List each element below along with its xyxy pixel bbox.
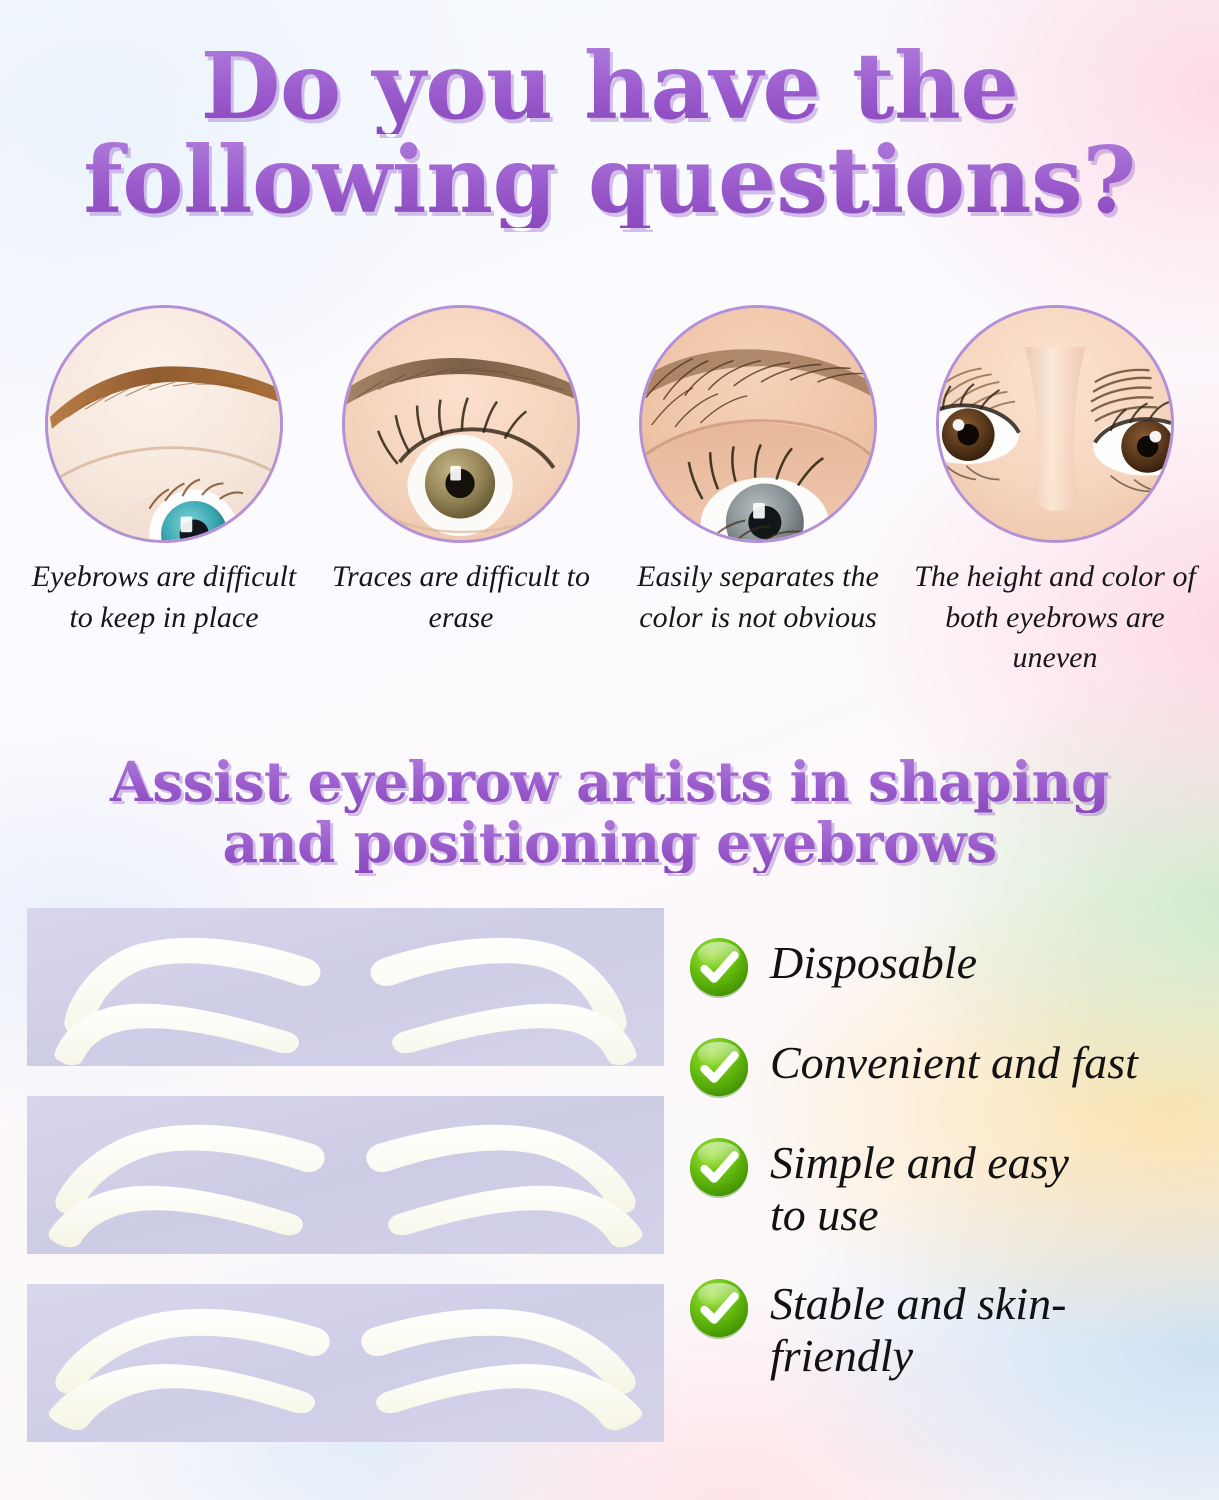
stencil-sheet-list (27, 908, 664, 1472)
green-check-icon (688, 1137, 750, 1199)
feature-item: Disposable (688, 935, 1208, 999)
eyebrow-stencil-sheet-arched (27, 908, 664, 1066)
eyebrow-stencil-sheet-rounded (27, 1284, 664, 1442)
problem-item: Eyebrows are difficult to keep in place (28, 305, 300, 679)
eyebrow-stencil-sheet-soft-angled (27, 1096, 664, 1254)
feature-item: Convenient and fast (688, 1035, 1208, 1099)
section-subtitle-line-2: and positioning eyebrows (70, 813, 1149, 874)
feature-label: Convenient and fast (770, 1035, 1138, 1089)
eye-photo-color-separation (639, 305, 877, 543)
problem-caption: Eyebrows are difficult to keep in place (32, 557, 297, 638)
feature-label: Disposable (770, 935, 977, 989)
section-subtitle-line-1: Assist eyebrow artists in shaping (70, 752, 1149, 813)
problem-list: Eyebrows are difficult to keep in place (28, 305, 1191, 679)
feature-label: Stable and skin- friendly (770, 1276, 1066, 1381)
feature-item: Stable and skin- friendly (688, 1276, 1208, 1381)
eye-photo-unruly-eyebrow (45, 305, 283, 543)
green-check-icon (688, 1037, 750, 1099)
problem-item: Easily separates the color is not obviou… (622, 305, 894, 679)
feature-item: Simple and easy to use (688, 1135, 1208, 1240)
page-title: Do you have the following questions? (0, 40, 1219, 228)
feature-list: Disposable Convenient and fast (688, 935, 1208, 1417)
problem-item: The height and color of both eyebrows ar… (919, 305, 1191, 679)
feature-label: Simple and easy to use (770, 1135, 1069, 1240)
problem-caption: Traces are difficult to erase (316, 557, 606, 638)
page-title-line-2: following questions? (60, 134, 1159, 228)
eye-photo-traces (342, 305, 580, 543)
page-title-line-1: Do you have the (60, 40, 1159, 134)
infographic-page: Do you have the following questions? (0, 0, 1219, 1500)
eye-photo-uneven-brows (936, 305, 1174, 543)
problem-caption: The height and color of both eyebrows ar… (905, 557, 1205, 679)
green-check-icon (688, 937, 750, 999)
green-check-icon (688, 1278, 750, 1340)
problem-item: Traces are difficult to erase (325, 305, 597, 679)
section-subtitle: Assist eyebrow artists in shaping and po… (0, 752, 1219, 873)
problem-caption: Easily separates the color is not obviou… (613, 557, 903, 638)
